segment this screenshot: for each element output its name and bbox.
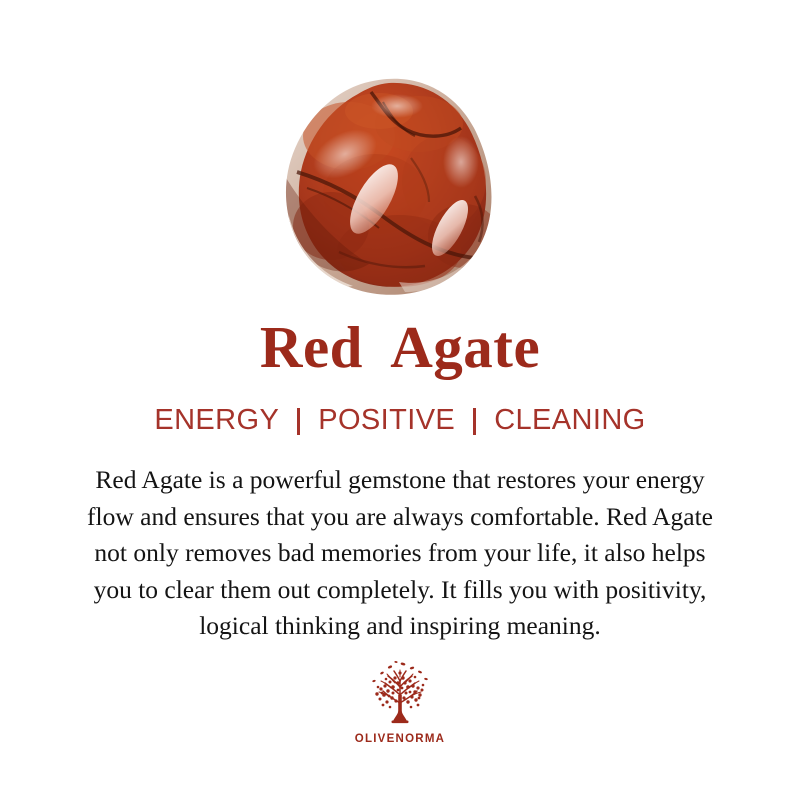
- description-line-5: logical thinking and inspiring meaning.: [20, 608, 780, 645]
- product-image-area: [0, 0, 800, 318]
- attribute-energy: ENERGY: [152, 406, 281, 435]
- brand-logo: OLIVENORMA: [355, 659, 445, 746]
- description-line-4: you to clear them out completely. It fil…: [20, 572, 780, 609]
- attribute-keywords: ENERGY POSITIVE CLEANING: [152, 406, 647, 435]
- description-line-1: Red Agate is a powerful gemstone that re…: [20, 462, 780, 499]
- description-line-3: not only removes bad memories from your …: [20, 535, 780, 572]
- attribute-cleaning: CLEANING: [492, 406, 647, 435]
- description-line-2: flow and ensures that you are always com…: [20, 499, 780, 536]
- gemstone-illustration: [279, 76, 507, 298]
- tree-of-life-icon: [360, 659, 440, 731]
- attribute-separator-2: [473, 408, 476, 435]
- product-description: Red Agate is a powerful gemstone that re…: [20, 462, 780, 645]
- brand-name: OLIVENORMA: [355, 734, 445, 746]
- product-info-card: Red Agate ENERGY POSITIVE CLEANING Red A…: [0, 0, 800, 800]
- attribute-positive: POSITIVE: [316, 406, 457, 435]
- attribute-separator-1: [297, 408, 300, 435]
- red-agate-stone-image: [279, 76, 507, 298]
- page-title: Red Agate: [260, 318, 540, 377]
